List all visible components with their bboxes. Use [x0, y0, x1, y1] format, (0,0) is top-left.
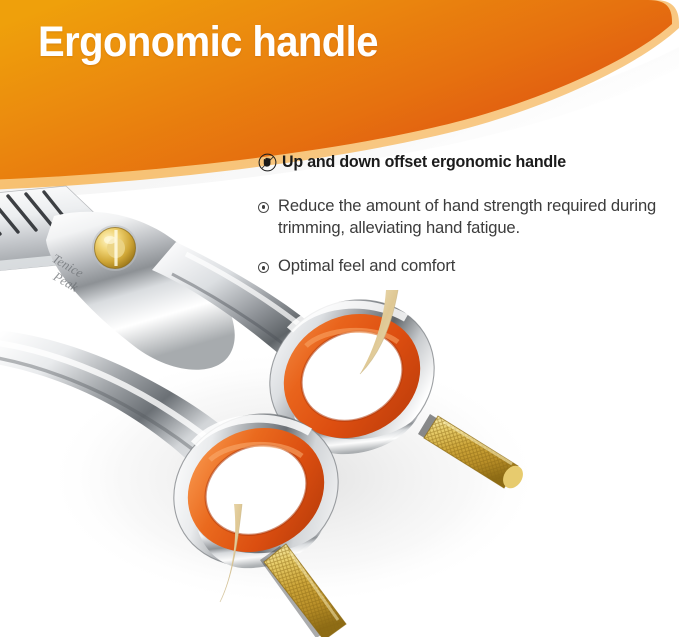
shears-illustration: Tenice Peak [0, 178, 564, 637]
banner-title: Ergonomic handle [38, 18, 378, 67]
product-feature-panel: Ergonomic handle Up and down offset ergo… [0, 0, 679, 637]
feature-headline: Up and down offset ergonomic handle [258, 152, 676, 178]
pivot-screw [92, 225, 138, 271]
product-photo-shears: Tenice Peak [0, 178, 564, 637]
hand-palm-icon [258, 153, 277, 178]
feature-headline-text: Up and down offset ergonomic handle [282, 152, 566, 173]
